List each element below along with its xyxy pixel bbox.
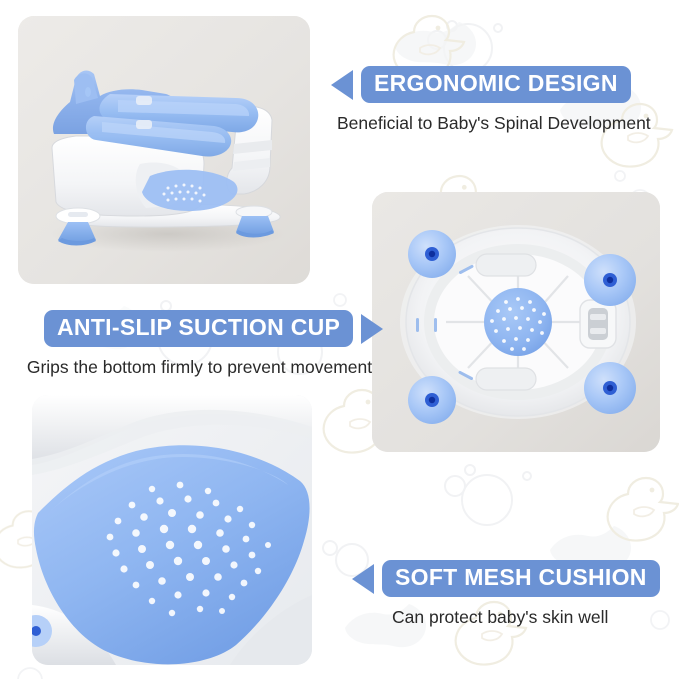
feature-badge-ergonomic-design: ERGONOMIC DESIGN [361, 66, 631, 103]
triangle-left-icon [331, 70, 353, 100]
triangle-right-icon [361, 314, 383, 344]
baby-bath-seat-underside-photo [372, 192, 660, 452]
feature-ergonomic-design: ERGONOMIC DESIGN Beneficial to Baby's Sp… [331, 66, 651, 135]
suction-cup-icon [408, 376, 456, 424]
feature-badge-anti-slip-suction-cup: ANTI-SLIP SUCTION CUP [44, 310, 353, 347]
suction-cup-icon [584, 362, 636, 414]
drain-slot-icon [580, 300, 616, 348]
suction-cup-icon [408, 230, 456, 278]
feature-soft-mesh-cushion: SOFT MESH CUSHION Can protect baby's ski… [352, 560, 660, 629]
panel-seat-side-view [18, 16, 310, 284]
bubble-cluster-icon-3 [445, 465, 531, 525]
bubble-cluster-icon [428, 21, 502, 72]
baby-bath-seat-side-view-photo [18, 16, 310, 284]
suction-cup-foot-icon [236, 206, 274, 238]
suction-cup-icon [584, 254, 636, 306]
feature-subtitle-ergonomic-design: Beneficial to Baby's Spinal Development [337, 113, 651, 135]
feature-anti-slip-suction-cup: ANTI-SLIP SUCTION CUP Grips the bottom f… [44, 310, 383, 379]
triangle-left-icon [352, 564, 374, 594]
soft-mesh-cushion-closeup-photo [32, 395, 312, 665]
feature-subtitle-anti-slip-suction-cup: Grips the bottom firmly to prevent movem… [22, 357, 377, 379]
feature-badge-soft-mesh-cushion: SOFT MESH CUSHION [382, 560, 660, 597]
feature-subtitle-soft-mesh-cushion: Can protect baby's skin well [392, 607, 660, 629]
panel-underside-suction-cups [372, 192, 660, 452]
panel-mesh-cushion-closeup [32, 395, 312, 665]
